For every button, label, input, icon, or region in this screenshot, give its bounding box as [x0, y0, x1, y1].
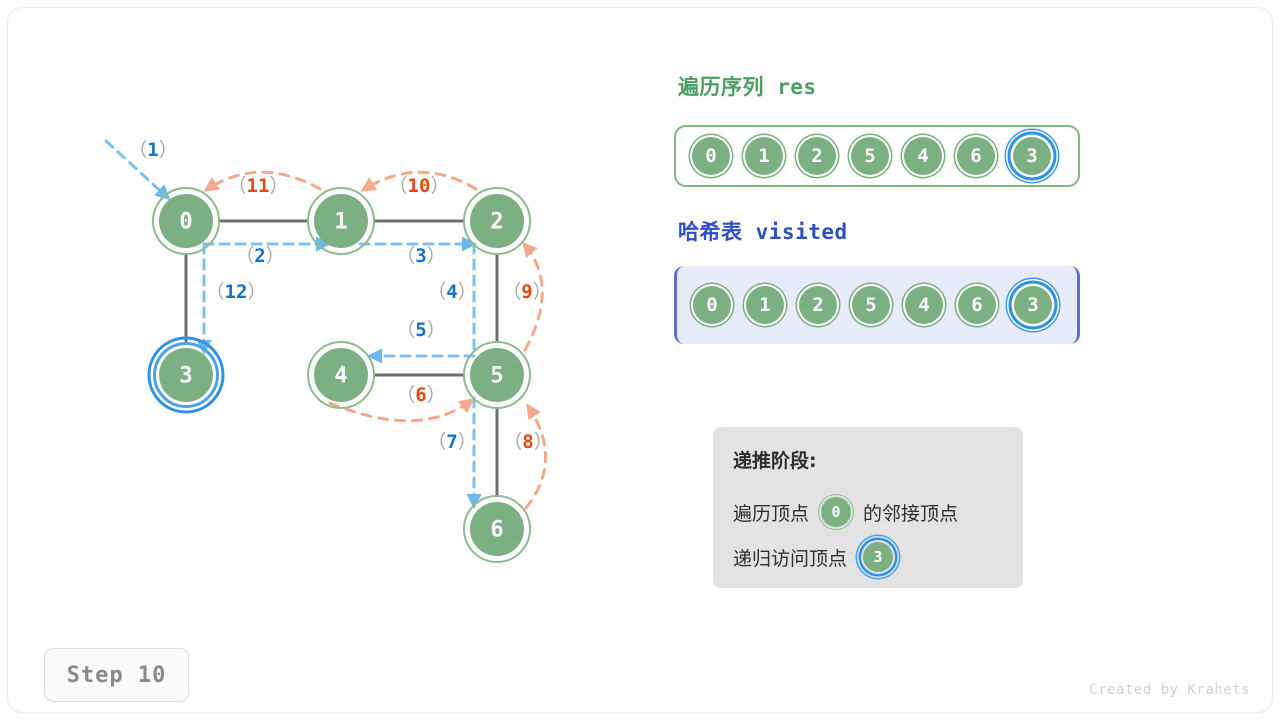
res-array: 0125463 — [674, 125, 1080, 187]
graph-node-0: 0 — [153, 188, 219, 254]
legend-node-3: 3 — [863, 542, 893, 572]
graph-node-label: 3 — [179, 364, 192, 389]
step-label-10: （10） — [389, 175, 450, 197]
step-label-1: （1） — [128, 139, 177, 161]
legend-row1-suffix: 的邻接顶点 — [863, 499, 958, 526]
graph-node-4: 4 — [308, 342, 374, 408]
res-item: 5 — [851, 137, 889, 175]
step-label-9: （9） — [502, 281, 551, 303]
graph-node-label: 2 — [490, 210, 503, 235]
step-badge: Step 10 — [44, 648, 189, 702]
step-label-2: （2） — [235, 245, 284, 267]
graph-node-3: 3 — [149, 338, 223, 412]
legend-node-0: 0 — [821, 497, 851, 527]
graph-node-label: 5 — [490, 364, 503, 389]
graph-node-label: 1 — [334, 210, 347, 235]
res-item: 6 — [957, 137, 995, 175]
res-item: 4 — [904, 137, 942, 175]
graph-node-label: 6 — [490, 518, 503, 543]
legend-row-recurse: 递归访问顶点 3 — [733, 542, 905, 572]
visited-set: 0125463 — [674, 266, 1080, 344]
res-title: 遍历序列 res — [678, 71, 817, 101]
legend-row2-prefix: 递归访问顶点 — [733, 544, 847, 571]
visited-item: 5 — [852, 286, 890, 324]
legend-heading: 递推阶段: — [733, 446, 817, 473]
res-item: 3 — [1013, 137, 1051, 175]
visited-item: 0 — [693, 286, 731, 324]
legend-panel: 递推阶段: 遍历顶点 0 的邻接顶点 递归访问顶点 3 — [713, 427, 1023, 588]
graph-node-5: 5 — [464, 342, 530, 408]
visited-title: 哈希表 visited — [678, 216, 848, 246]
visited-item: 3 — [1014, 286, 1052, 324]
visited-item: 2 — [799, 286, 837, 324]
step-label-3: （3） — [396, 245, 445, 267]
res-item: 0 — [692, 137, 730, 175]
illustration-card: 0123456 （1）（2）（3）（4）（5）（6）（7）（8）（9）（10）（… — [8, 8, 1272, 712]
step-label-6: （6） — [396, 384, 445, 406]
step-label-4: （4） — [427, 281, 476, 303]
graph-node-label: 0 — [179, 210, 192, 235]
step-label-11: （11） — [228, 175, 289, 197]
visited-item: 6 — [958, 286, 996, 324]
graph-node-2: 2 — [464, 188, 530, 254]
graph-node-label: 4 — [334, 364, 347, 389]
step-label-8: （8） — [503, 431, 552, 453]
graph-node-1: 1 — [308, 188, 374, 254]
legend-row-traverse: 遍历顶点 0 的邻接顶点 — [733, 497, 958, 527]
graph-canvas: 0123456 （1）（2）（3）（4）（5）（6）（7）（8）（9）（10）（… — [8, 8, 1272, 712]
legend-row1-prefix: 遍历顶点 — [733, 499, 809, 526]
res-item: 2 — [798, 137, 836, 175]
credit-text: Created by Krahets — [1089, 682, 1250, 698]
visited-item: 4 — [905, 286, 943, 324]
graph-node-6: 6 — [464, 496, 530, 562]
step-label-12: （12） — [206, 281, 267, 303]
step-label-5: （5） — [396, 319, 445, 341]
res-item: 1 — [745, 137, 783, 175]
step-label-7: （7） — [427, 431, 476, 453]
visited-item: 1 — [746, 286, 784, 324]
arrow-step-8 — [526, 406, 546, 508]
